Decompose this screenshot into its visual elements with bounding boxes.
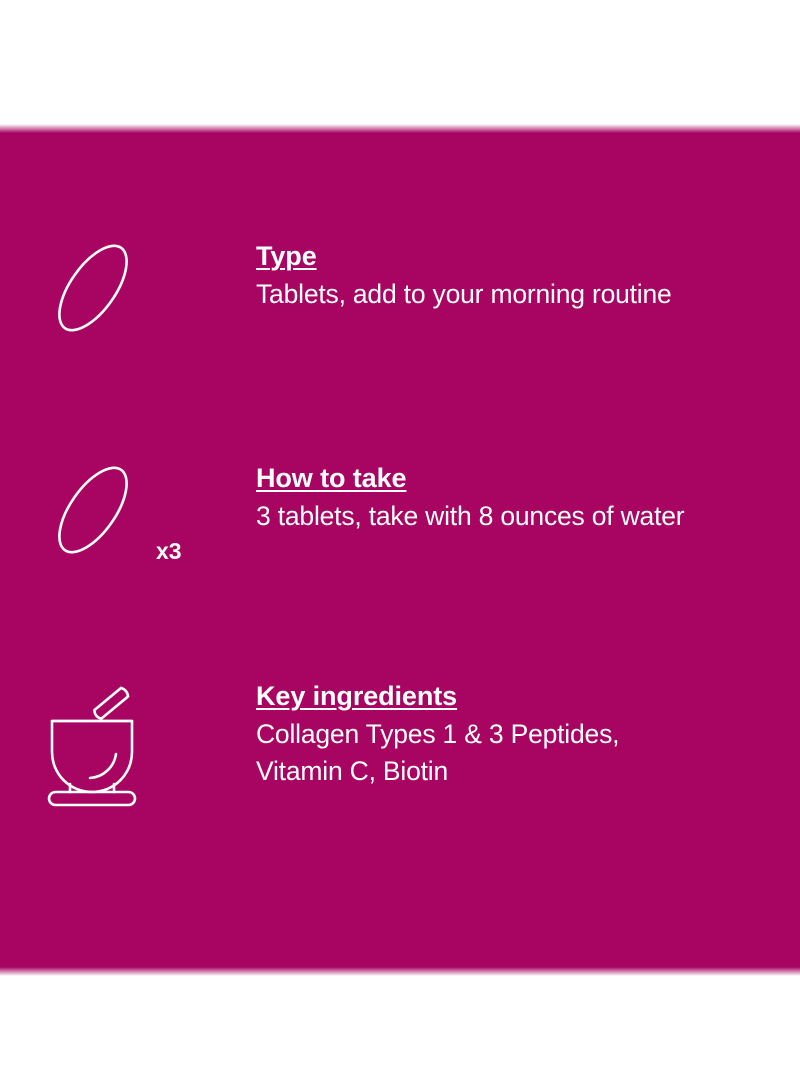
row-heading: How to take — [256, 462, 786, 494]
row-heading: Key ingredients — [256, 680, 786, 712]
tablet-pill-x3-icon: x3 — [38, 462, 168, 612]
row-heading: Type — [256, 240, 786, 272]
row-body-line: 3 tablets, take with 8 ounces of water — [256, 498, 786, 535]
info-row-text: Key ingredients Collagen Types 1 & 3 Pep… — [256, 680, 786, 790]
icon-multiplier-label: x3 — [156, 540, 182, 563]
row-body: 3 tablets, take with 8 ounces of water — [256, 498, 786, 535]
info-row-type: Type Tablets, add to your morning routin… — [0, 240, 800, 440]
info-panel: Type Tablets, add to your morning routin… — [0, 124, 800, 976]
info-row-text: Type Tablets, add to your morning routin… — [256, 240, 786, 313]
info-row-how-to-take: x3 How to take 3 tablets, take with 8 ou… — [0, 462, 800, 662]
row-body-line: Tablets, add to your morning routine — [256, 276, 786, 313]
info-row-key-ingredients: Key ingredients Collagen Types 1 & 3 Pep… — [0, 680, 800, 900]
row-body: Collagen Types 1 & 3 Peptides, Vitamin C… — [256, 716, 786, 790]
row-body-line: Collagen Types 1 & 3 Peptides, — [256, 716, 786, 753]
tablet-pill-icon — [38, 240, 168, 390]
info-row-text: How to take 3 tablets, take with 8 ounce… — [256, 462, 786, 535]
row-body: Tablets, add to your morning routine — [256, 276, 786, 313]
row-body-line: Vitamin C, Biotin — [256, 753, 786, 790]
mortar-and-pestle-icon — [38, 680, 168, 830]
